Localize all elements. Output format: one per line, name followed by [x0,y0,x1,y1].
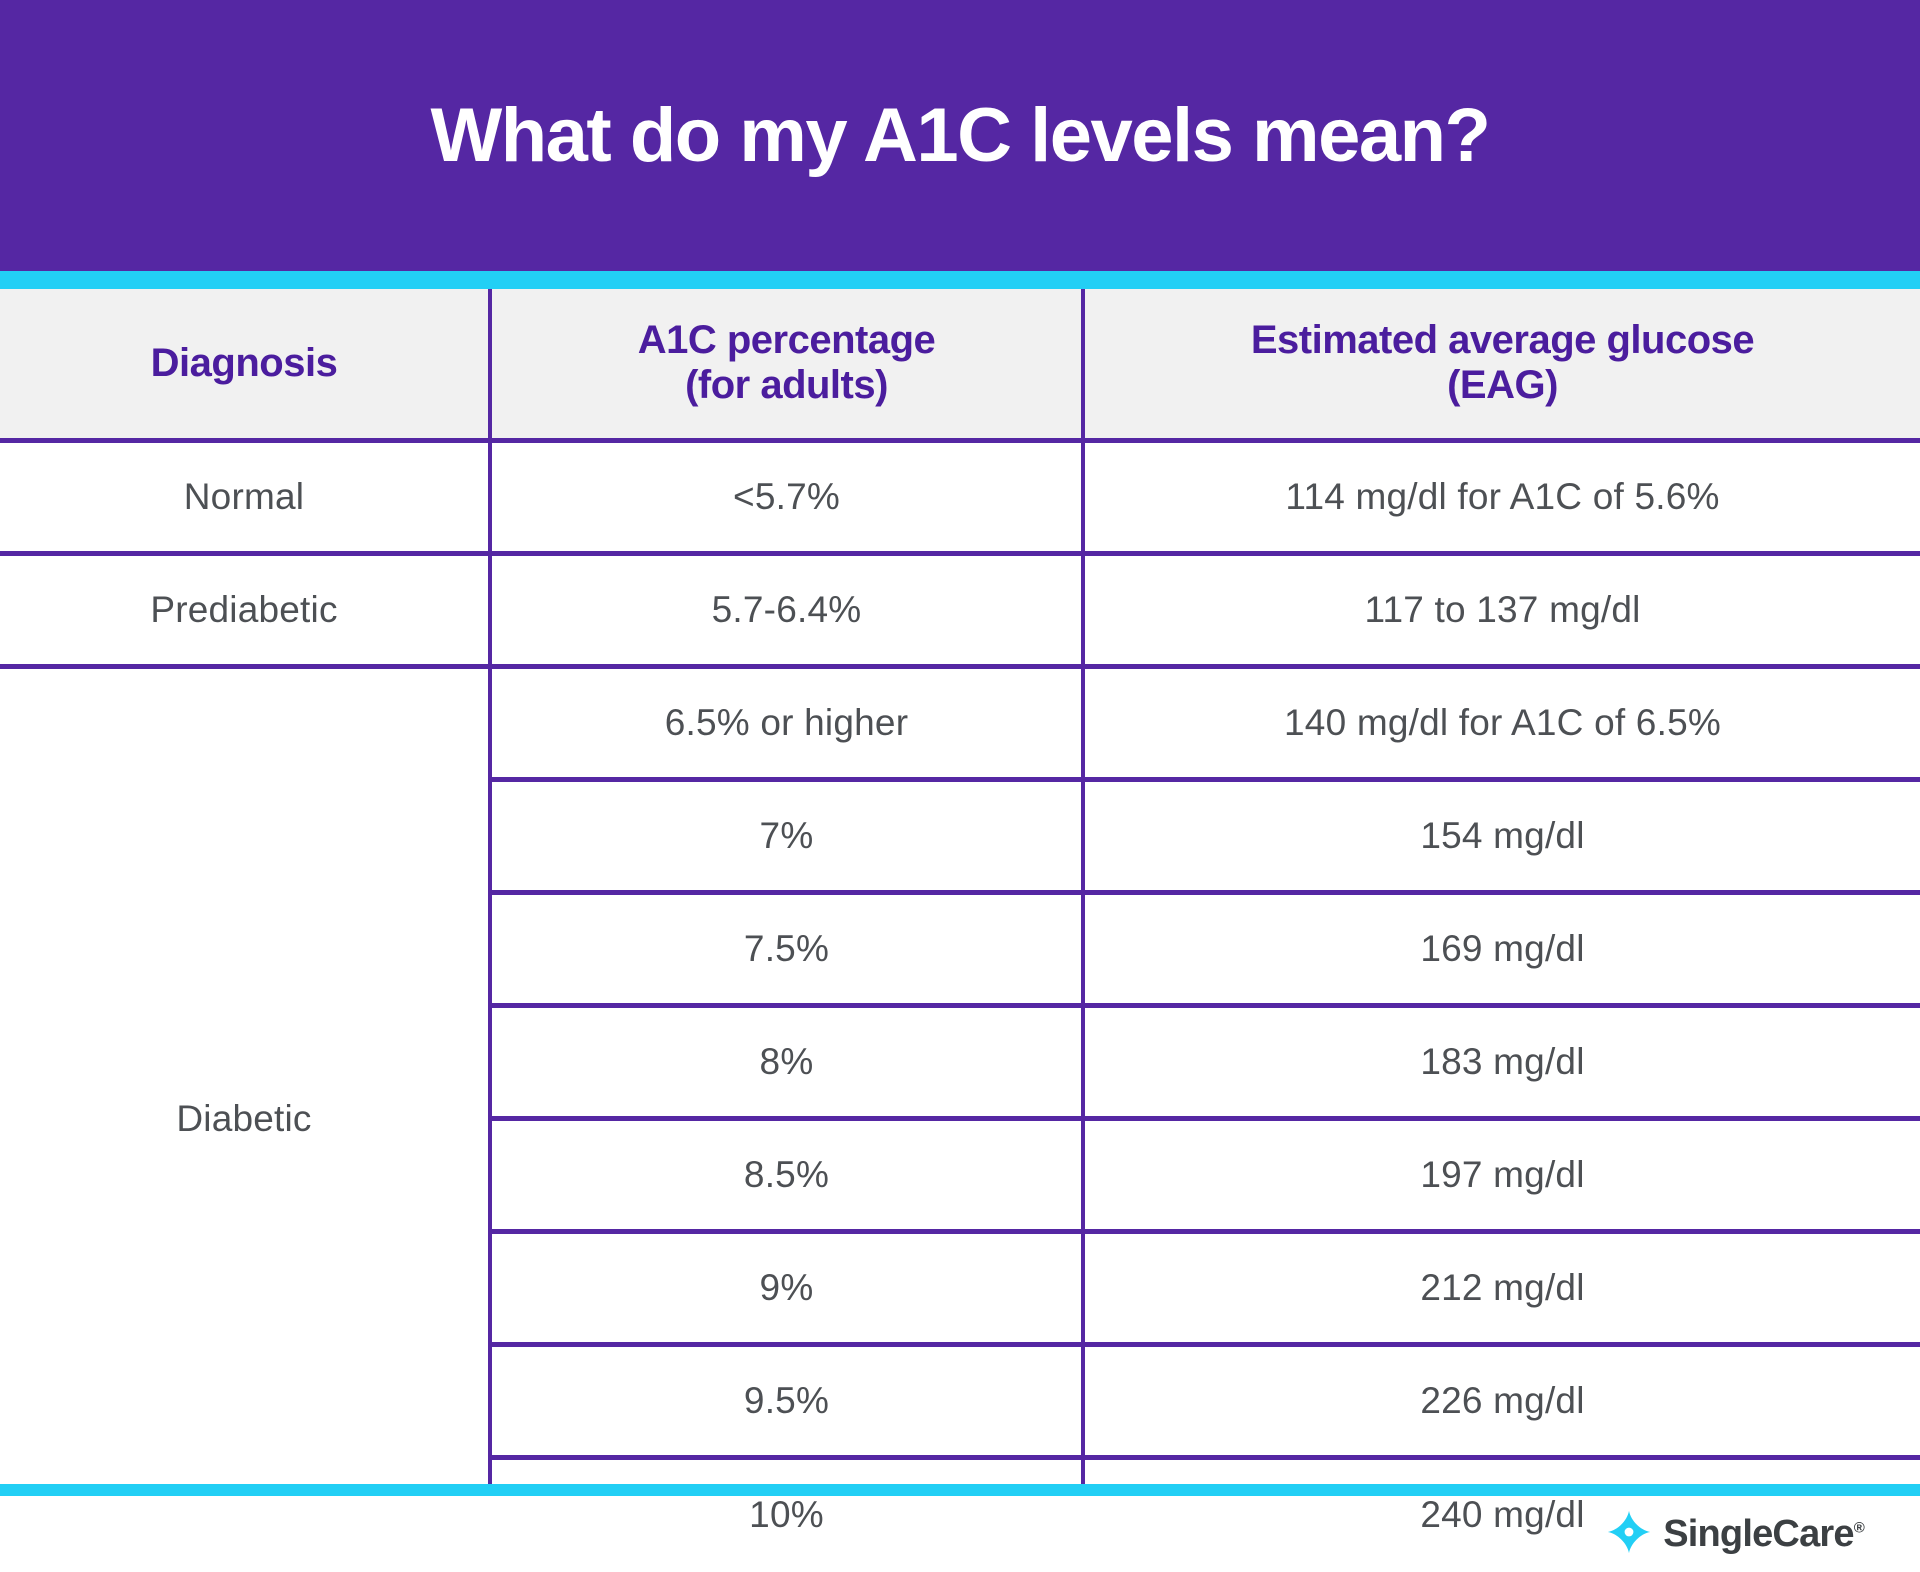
cell-eag-normal: 114 mg/dl for A1C of 5.6% [1083,440,1920,553]
column-header-a1c-percentage-line1: A1C percentage [638,318,936,362]
a1c-table-container: Diagnosis A1C percentage (for adults) Es… [0,289,1920,1484]
cell-eag-prediabetic: 117 to 137 mg/dl [1083,553,1920,666]
cell-a1c-diabetic-5: 9% [490,1231,1083,1344]
cell-diagnosis-normal: Normal [0,440,490,553]
column-header-eag-line2: (EAG) [1447,363,1558,407]
column-header-a1c-percentage-line2: (for adults) [685,363,888,407]
column-header-eag-line1: Estimated average glucose [1251,318,1754,362]
cell-eag-diabetic-2: 169 mg/dl [1083,892,1920,1005]
table-body: Normal <5.7% 114 mg/dl for A1C of 5.6% P… [0,440,1920,1570]
table-row: Prediabetic 5.7-6.4% 117 to 137 mg/dl [0,553,1920,666]
cell-eag-diabetic-0: 140 mg/dl for A1C of 6.5% [1083,666,1920,779]
singlecare-wordmark: SingleCare® [1663,1515,1864,1553]
logo-name-text: SingleCare [1663,1513,1854,1555]
table-header: Diagnosis A1C percentage (for adults) Es… [0,289,1920,440]
table-row: Normal <5.7% 114 mg/dl for A1C of 5.6% [0,440,1920,553]
table-row: Diabetic 6.5% or higher 140 mg/dl for A1… [0,666,1920,779]
page-title: What do my A1C levels mean? [431,98,1490,174]
page-banner: What do my A1C levels mean? [0,0,1920,271]
cell-a1c-diabetic-6: 9.5% [490,1344,1083,1457]
cell-eag-diabetic-5: 212 mg/dl [1083,1231,1920,1344]
cell-a1c-diabetic-2: 7.5% [490,892,1083,1005]
cell-diagnosis-diabetic: Diabetic [0,666,490,1570]
column-header-a1c-percentage: A1C percentage (for adults) [490,289,1083,440]
cell-a1c-normal: <5.7% [490,440,1083,553]
page-footer: SingleCare® [0,1496,1920,1572]
column-header-diagnosis: Diagnosis [0,289,490,440]
cell-eag-diabetic-3: 183 mg/dl [1083,1005,1920,1118]
cell-diagnosis-prediabetic: Prediabetic [0,553,490,666]
cell-a1c-diabetic-4: 8.5% [490,1118,1083,1231]
accent-rule-bottom [0,1484,1920,1496]
cell-eag-diabetic-6: 226 mg/dl [1083,1344,1920,1457]
cell-eag-diabetic-1: 154 mg/dl [1083,779,1920,892]
cell-eag-diabetic-4: 197 mg/dl [1083,1118,1920,1231]
a1c-levels-table: Diagnosis A1C percentage (for adults) Es… [0,289,1920,1570]
table-header-row: Diagnosis A1C percentage (for adults) Es… [0,289,1920,440]
cell-a1c-prediabetic: 5.7-6.4% [490,553,1083,666]
registered-trademark-icon: ® [1854,1519,1864,1536]
column-header-estimated-average-glucose: Estimated average glucose (EAG) [1083,289,1920,440]
singlecare-logo: SingleCare® [1607,1510,1864,1559]
cell-a1c-diabetic-0: 6.5% or higher [490,666,1083,779]
singlecare-starburst-icon [1607,1510,1651,1559]
accent-rule-top [0,271,1920,289]
cell-a1c-diabetic-3: 8% [490,1005,1083,1118]
cell-a1c-diabetic-1: 7% [490,779,1083,892]
